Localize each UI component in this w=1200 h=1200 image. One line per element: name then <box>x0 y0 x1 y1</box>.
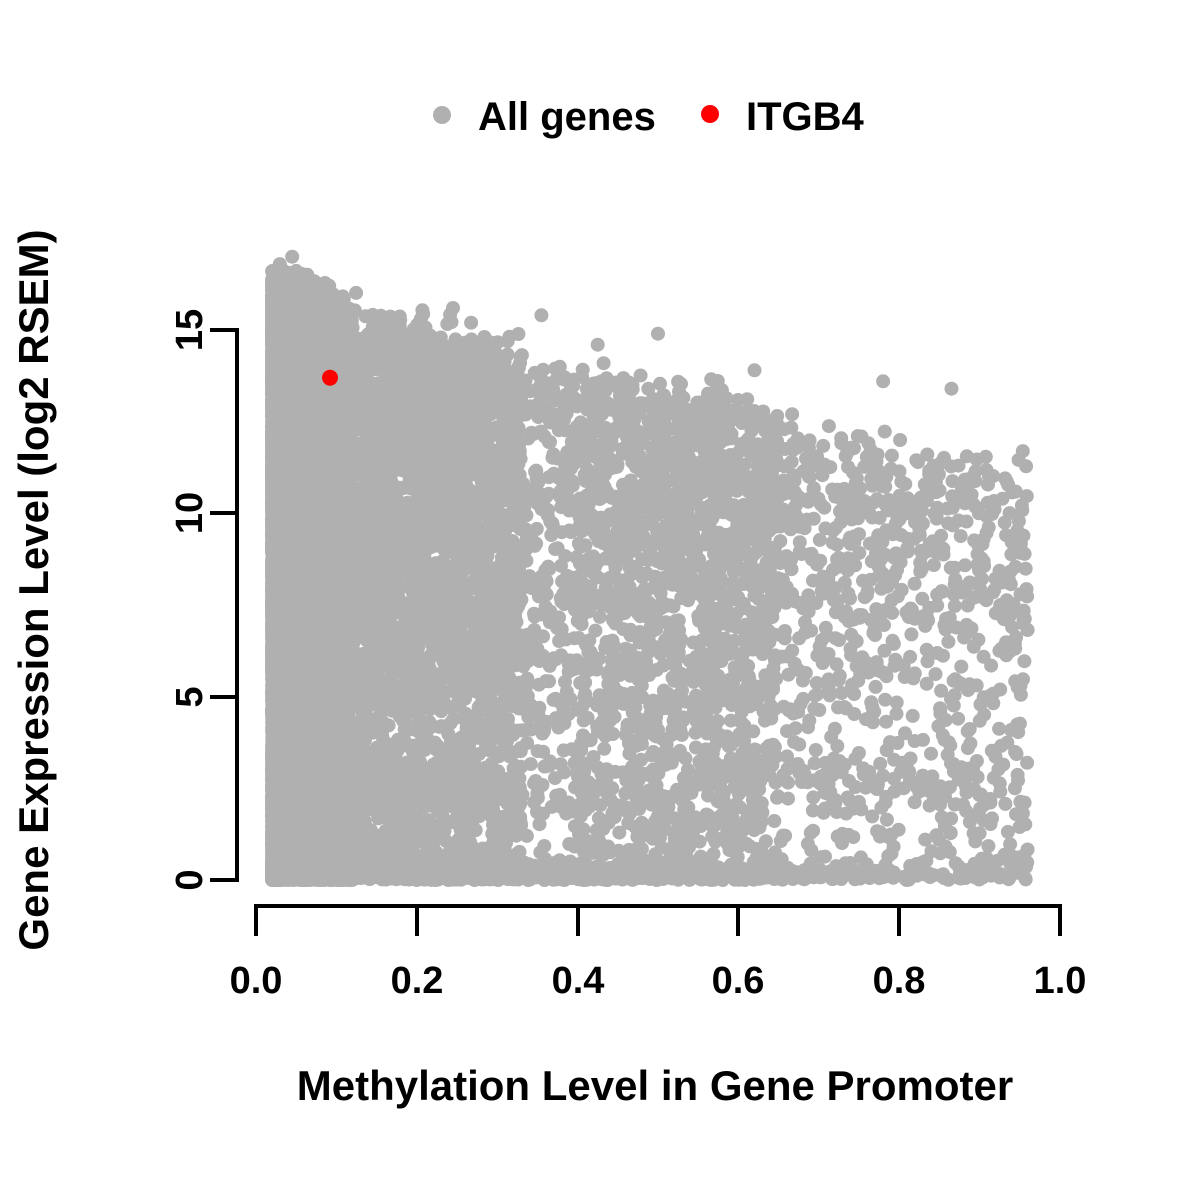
scatter-plot-figure: 15 10 5 0 0.0 0.2 0.4 0.6 0.8 1.0 Methyl… <box>0 0 1200 1200</box>
x-tick-label-0.4: 0.4 <box>552 960 605 1002</box>
legend: All genes ITGB4 <box>433 95 865 139</box>
legend-marker-all-genes <box>433 106 451 124</box>
legend-label-all-genes: All genes <box>478 95 656 139</box>
x-axis-line <box>256 906 1060 925</box>
x-tick-label-0.6: 0.6 <box>712 960 765 1002</box>
y-axis-line <box>220 330 237 880</box>
y-tick-label-15: 15 <box>169 309 211 351</box>
series-itgb4-point <box>322 370 338 386</box>
x-axis-title: Methylation Level in Gene Promoter <box>297 1062 1013 1109</box>
legend-label-itgb4: ITGB4 <box>746 95 865 139</box>
x-tick-label-0.2: 0.2 <box>391 960 444 1002</box>
y-tick-label-0: 0 <box>169 869 211 890</box>
y-tick-label-10: 10 <box>169 492 211 534</box>
legend-marker-itgb4 <box>701 105 719 123</box>
x-tick-label-0.8: 0.8 <box>873 960 926 1002</box>
plot-canvas: 15 10 5 0 0.0 0.2 0.4 0.6 0.8 1.0 Methyl… <box>0 0 1200 1200</box>
y-tick-label-5: 5 <box>169 686 211 707</box>
series-all-genes-points <box>265 250 1035 887</box>
x-tick-label-0.0: 0.0 <box>230 960 283 1002</box>
y-axis-title: Gene Expression Level (log2 RSEM) <box>10 229 57 950</box>
x-tick-label-1.0: 1.0 <box>1034 960 1087 1002</box>
